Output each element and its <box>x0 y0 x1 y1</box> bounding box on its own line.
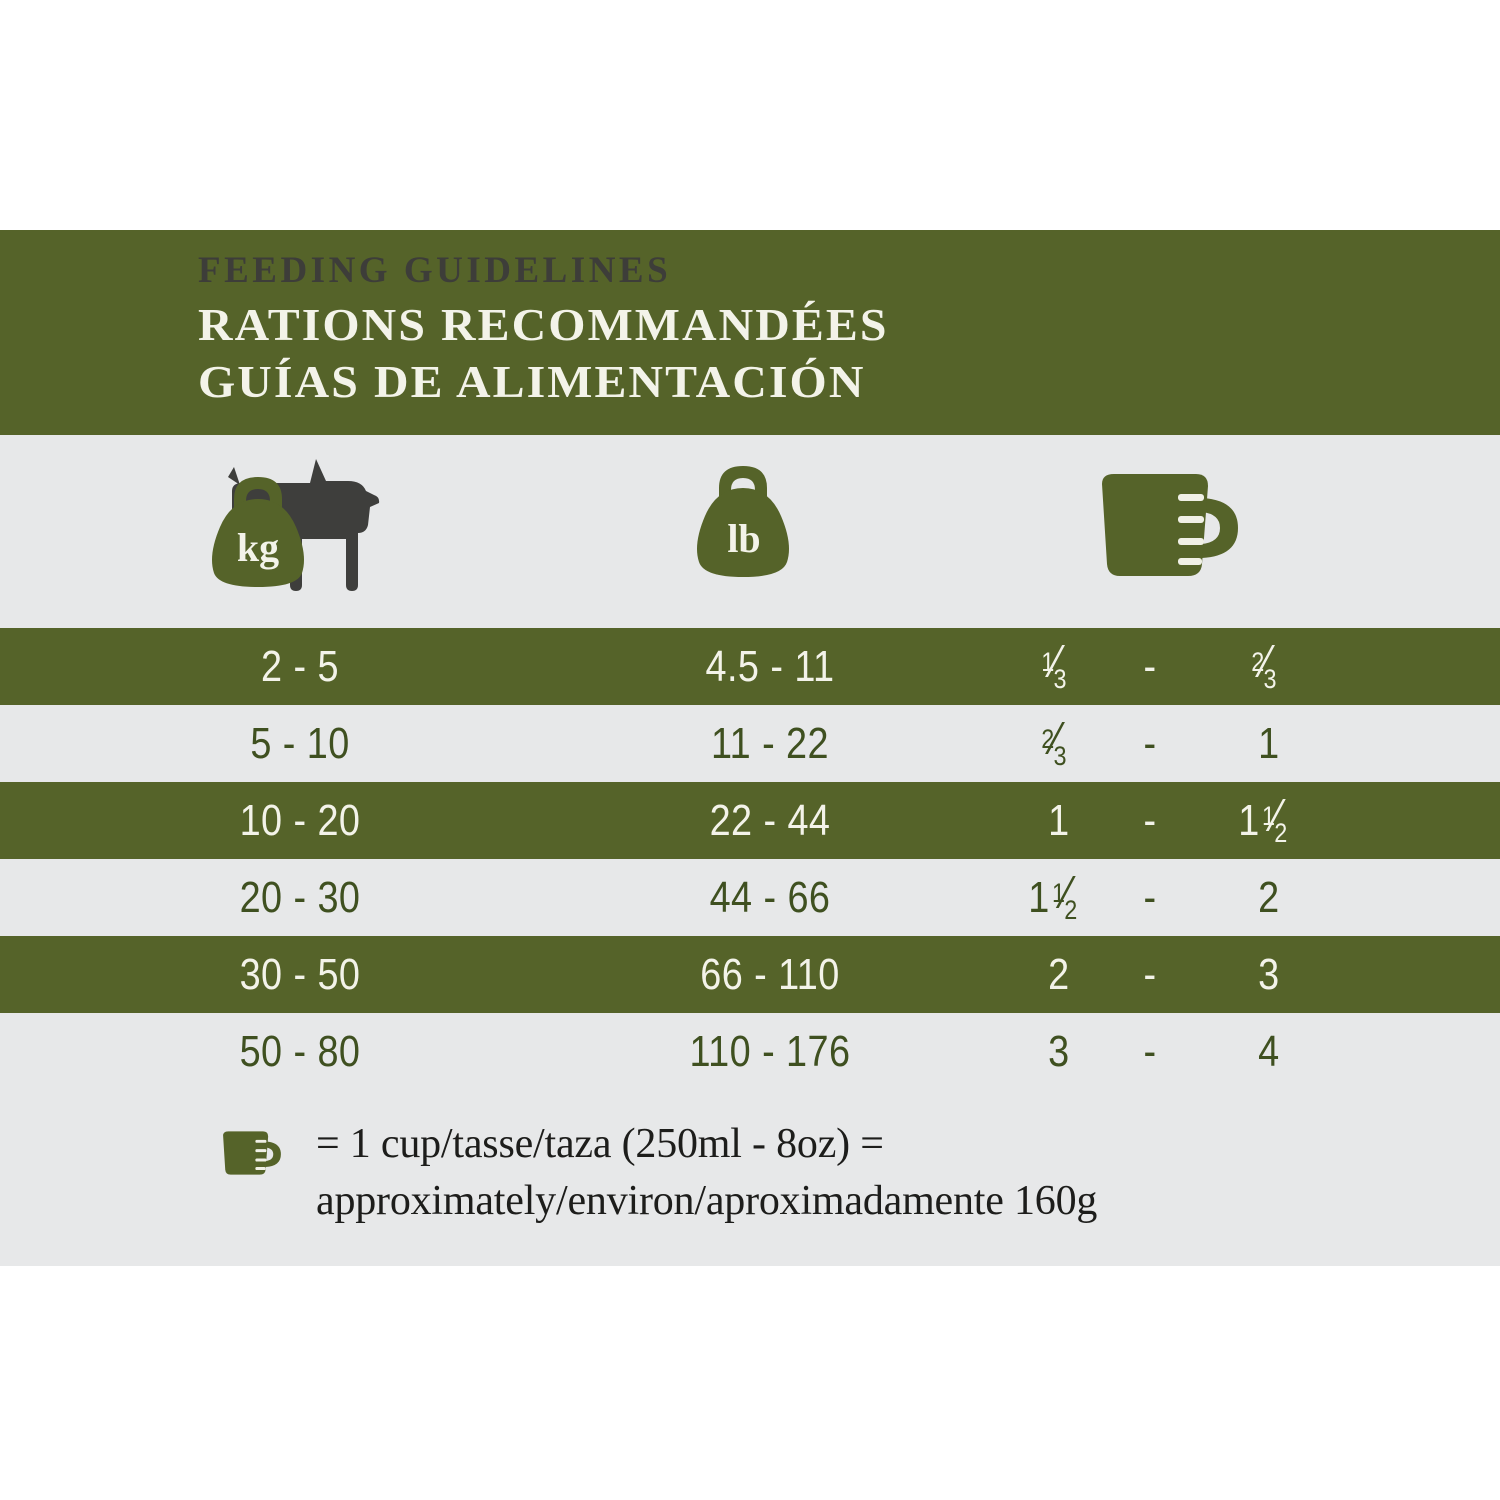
lb-weight-icon: lb <box>683 460 803 585</box>
kg-column-header: kg <box>198 455 428 595</box>
cup-from-whole: 1 <box>1028 873 1049 922</box>
header-band: FEEDING GUIDELINES RATIONS RECOMMANDÉES … <box>0 230 1500 435</box>
header-title-french: RATIONS RECOMMANDÉES <box>198 296 1500 353</box>
cup-to-whole: 2 <box>1258 873 1279 922</box>
lb-column-header: lb <box>683 460 803 585</box>
cell-kg: 50 - 80 <box>42 1013 558 1090</box>
cup-from-whole: 3 <box>1048 1027 1069 1076</box>
table-row: 10 - 20 22 - 44 1 - 11⁄2 <box>0 782 1500 859</box>
feeding-guidelines-panel: FEEDING GUIDELINES RATIONS RECOMMANDÉES … <box>0 0 1500 1500</box>
cup-to-whole: 1 <box>1238 796 1259 845</box>
feeding-table: 2 - 5 4.5 - 11 1⁄3 - 2⁄3 5 - 10 11 - 22 … <box>0 628 1500 1090</box>
cell-lb: 11 - 22 <box>512 705 1028 782</box>
kg-icon-label: kg <box>237 525 279 570</box>
header-eyebrow-english: FEEDING GUIDELINES <box>198 246 1500 296</box>
cup-from-whole: 1 <box>1048 796 1069 845</box>
cell-kg: 10 - 20 <box>42 782 558 859</box>
table-row: 2 - 5 4.5 - 11 1⁄3 - 2⁄3 <box>0 628 1500 705</box>
table-row: 50 - 80 110 - 176 3 - 4 <box>0 1013 1500 1090</box>
cell-lb: 44 - 66 <box>512 859 1028 936</box>
cell-kg: 20 - 30 <box>42 859 558 936</box>
header-title-spanish: GUÍAS DE ALIMENTACIÓN <box>198 353 1500 410</box>
table-row: 20 - 30 44 - 66 11⁄2 - 2 <box>0 859 1500 936</box>
measuring-cup-icon <box>1090 470 1250 580</box>
cell-cup-to: 2⁄3 <box>1175 628 1364 705</box>
cell-lb: 66 - 110 <box>512 936 1028 1013</box>
cell-cup-to: 2 <box>1175 859 1364 936</box>
column-header-icons: kg lb <box>0 435 1500 628</box>
cell-cup-to: 11⁄2 <box>1175 782 1364 859</box>
cell-cup-to: 1 <box>1175 705 1364 782</box>
table-row: 5 - 10 11 - 22 2⁄3 - 1 <box>0 705 1500 782</box>
cup-to-whole: 3 <box>1258 950 1279 999</box>
cell-cup-to: 4 <box>1175 1013 1364 1090</box>
measuring-cup-icon <box>218 1124 286 1182</box>
cup-to-whole: 4 <box>1258 1027 1279 1076</box>
cup-to-fraction: 1⁄2 <box>1262 791 1302 835</box>
cell-kg: 30 - 50 <box>42 936 558 1013</box>
cup-column-header <box>1090 470 1250 580</box>
footnote-text: = 1 cup/tasse/taza (250ml - 8oz) = appro… <box>218 1116 1440 1230</box>
cup-from-fraction: 1⁄2 <box>1052 868 1092 912</box>
cup-from-fraction: 2⁄3 <box>1041 714 1081 758</box>
kg-weight-icon: kg <box>198 469 318 594</box>
cup-from-whole: 2 <box>1048 950 1069 999</box>
cup-to-whole: 1 <box>1258 719 1279 768</box>
lb-icon-label: lb <box>727 516 760 561</box>
cell-lb: 4.5 - 11 <box>512 628 1028 705</box>
table-row: 30 - 50 66 - 110 2 - 3 <box>0 936 1500 1013</box>
cell-lb: 110 - 176 <box>512 1013 1028 1090</box>
cell-kg: 2 - 5 <box>42 628 558 705</box>
cell-lb: 22 - 44 <box>512 782 1028 859</box>
guidelines-card: FEEDING GUIDELINES RATIONS RECOMMANDÉES … <box>0 230 1500 1266</box>
cup-from-fraction: 1⁄3 <box>1041 637 1081 681</box>
cell-cup-to: 3 <box>1175 936 1364 1013</box>
footnote-area: = 1 cup/tasse/taza (250ml - 8oz) = appro… <box>0 1090 1500 1266</box>
cup-to-fraction: 2⁄3 <box>1251 637 1291 681</box>
cell-kg: 5 - 10 <box>42 705 558 782</box>
